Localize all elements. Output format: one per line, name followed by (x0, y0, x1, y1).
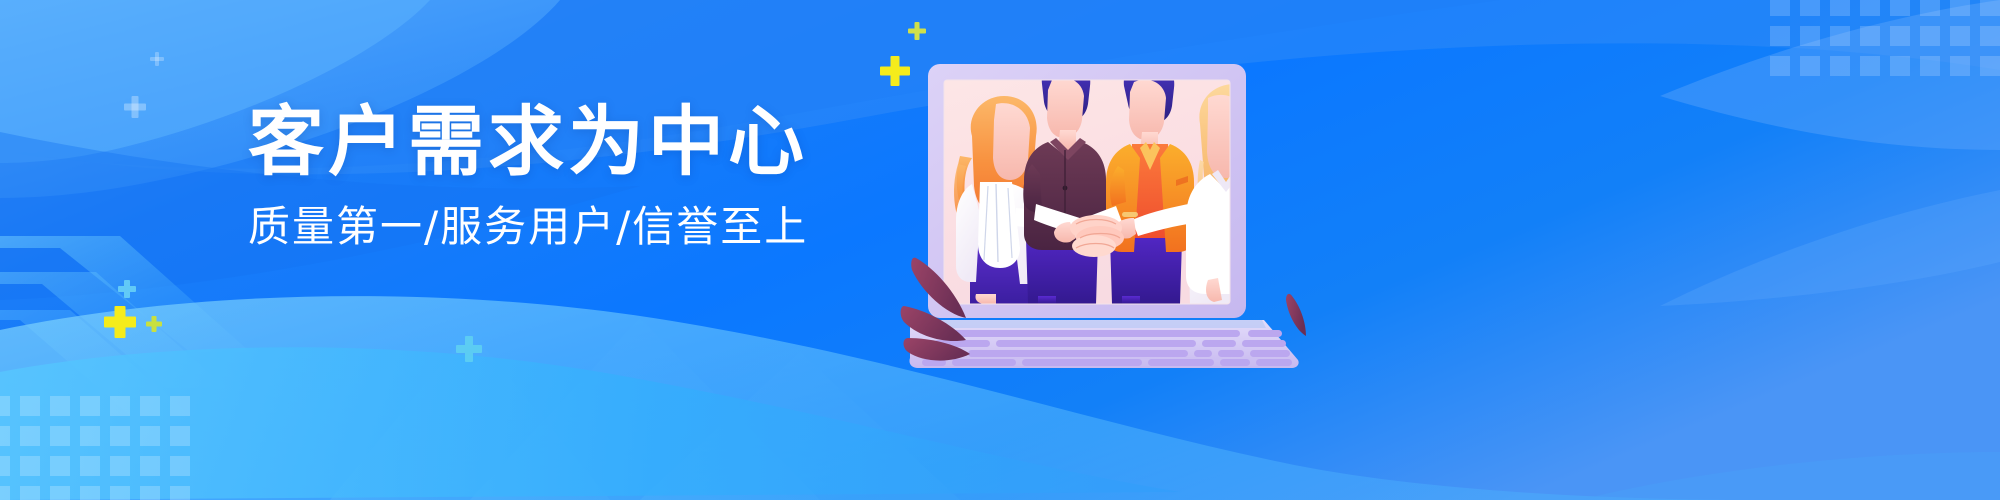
laptop-illustration (900, 38, 1320, 368)
banner-headline: 客户需求为中心 (248, 104, 868, 180)
plus-yellow-large-bottom-icon (104, 306, 136, 338)
banner-subheadline: 质量第一/服务用户/信誉至上 (248, 206, 868, 248)
plus-cyan-bottom-left-icon (118, 280, 136, 298)
plus-cyan-center-icon (456, 336, 482, 362)
headline-text-block: 客户需求为中心 质量第一/服务用户/信誉至上 (248, 104, 868, 248)
decor-square-grid-top-right (1770, 0, 2000, 76)
plus-white-upper-left-icon (124, 96, 146, 118)
decor-square-grid-bottom-left (0, 396, 190, 500)
promotional-banner: 客户需求为中心 质量第一/服务用户/信誉至上 (0, 0, 2000, 500)
plus-white-small-left-icon (150, 52, 164, 66)
decor-leaf-right (1286, 294, 1306, 336)
plus-yellow-small-bottom-icon (146, 316, 162, 332)
